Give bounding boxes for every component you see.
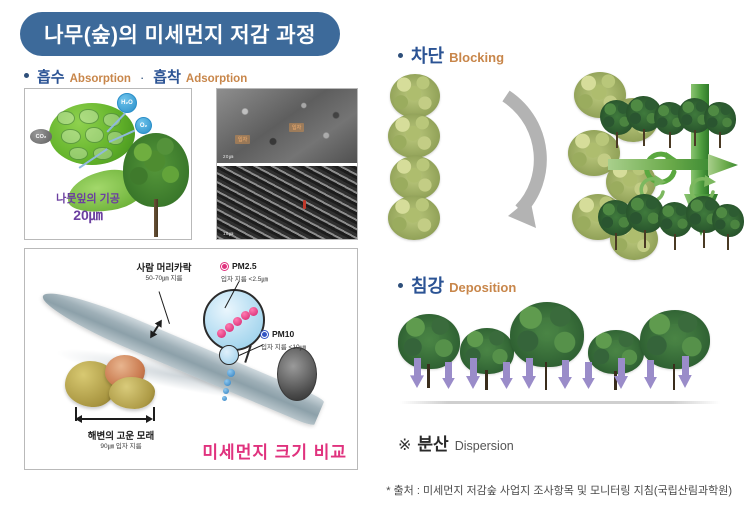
sem-image-top: 입자 입자 20㎛ <box>217 89 357 164</box>
tree-trunk-icon <box>485 370 488 390</box>
ground-line <box>400 401 720 404</box>
blocking-en: Blocking <box>449 50 504 65</box>
stomata-panel: CO₂ H₂O O₂ 나뭇잎의 기공 20㎛ <box>24 88 192 240</box>
tree-trunk-icon <box>673 364 676 390</box>
pm25-label-detail: 입자 지름 <2.5㎛ <box>221 273 268 283</box>
hair-cross-section-icon <box>277 347 317 401</box>
infographic-page: 나무(숲)의 미세먼지 저감 과정 흡수 Absorption · 흡착 Ads… <box>0 0 750 510</box>
deposition-ko: 침강 <box>411 272 444 298</box>
pm10-dot-icon <box>261 331 268 338</box>
page-title: 나무(숲)의 미세먼지 저감 과정 <box>20 12 340 56</box>
pm10-label: PM10 입자 지름 <10㎛ <box>261 329 306 351</box>
sem-scale-bottom: 10㎛ <box>223 231 234 237</box>
canopy-icon <box>388 114 440 158</box>
tree-canopy-icon <box>704 102 736 135</box>
pm25-dot-icon <box>221 263 228 270</box>
sand-label-name: 해변의 고운 모래 <box>61 431 181 443</box>
pm25-label: PM2.5 입자 지름 <2.5㎛ <box>221 261 268 283</box>
tree-trunk-icon <box>616 132 618 148</box>
header-separator: · <box>140 70 144 85</box>
sem-image-bottom: 10㎛ <box>217 166 357 240</box>
bullet-icon <box>398 283 403 288</box>
hair-label: 사람 머리카락 50-70㎛ 지름 <box>109 263 219 284</box>
tree-crown-icon <box>123 133 189 207</box>
source-note: * 출처 : 미세먼지 저감숲 사업지 조사항목 및 모니터링 지침(국립산림과… <box>386 482 732 498</box>
bullet-icon <box>24 73 29 78</box>
section-header-deposition: 침강 Deposition <box>398 272 516 298</box>
canopy-icon <box>390 156 440 200</box>
pm25-label-name: PM2.5 <box>232 261 257 271</box>
o2-bubble-icon: O₂ <box>135 117 152 134</box>
pm10-highlight-circle <box>219 345 239 365</box>
blocking-ko: 차단 <box>411 42 444 68</box>
absorption-en: Absorption <box>70 73 131 85</box>
section-header-dispersion: ※ 분산 Dispersion <box>398 430 514 455</box>
tree-trunk-icon <box>674 234 676 250</box>
tree-trunk-icon <box>643 129 645 146</box>
sem-scale-top: 20㎛ <box>223 154 234 160</box>
magnifier-icon <box>203 289 265 351</box>
tree-trunk-icon <box>694 130 696 146</box>
sem-tag-left: 입자 <box>235 135 250 144</box>
canopy-icon <box>388 196 440 240</box>
co2-bubble-icon: CO₂ <box>30 129 52 144</box>
tree-trunk-icon <box>727 234 729 250</box>
pm10-label-detail: 입자 지름 <10㎛ <box>261 341 306 351</box>
sem-marker-icon <box>303 200 306 209</box>
hair-label-name: 사람 머리카락 <box>109 263 219 275</box>
section-header-blocking: 차단 Blocking <box>398 42 504 68</box>
size-comparison-title: 미세먼지 크기 비교 <box>202 438 347 463</box>
dispersion-en: Dispersion <box>455 439 514 453</box>
tree-photo <box>123 133 189 237</box>
tree-trunk-icon <box>669 132 671 148</box>
deposition-en: Deposition <box>449 280 516 295</box>
absorption-ko: 흡수 <box>37 66 65 87</box>
tree-trunk-icon <box>427 364 430 388</box>
tree-trunk-icon <box>545 362 548 390</box>
sand-label: 해변의 고운 모래 90㎛ 입자 지름 <box>61 431 181 452</box>
tree-trunk-icon <box>644 230 646 248</box>
hair-label-detail: 50-70㎛ 지름 <box>109 275 219 283</box>
adsorption-ko: 흡착 <box>153 66 181 87</box>
gray-flow-arrow-icon <box>500 88 562 232</box>
tree-trunk-icon <box>719 132 721 148</box>
tree-row-top <box>600 96 740 150</box>
sem-tag-right: 입자 <box>289 123 304 132</box>
sand-diameter-arrow <box>75 415 153 423</box>
tree-trunk-icon <box>154 199 158 237</box>
bullet-icon <box>398 53 403 58</box>
section-header-absorption: 흡수 Absorption · 흡착 Adsorption <box>24 66 247 87</box>
tree-canopy-icon <box>398 314 460 369</box>
tree-row-bottom <box>598 192 744 250</box>
tree-trunk-icon <box>615 233 617 250</box>
reference-mark-icon: ※ <box>398 435 411 455</box>
adsorption-en: Adsorption <box>186 73 247 85</box>
sand-measure-tick-right <box>153 407 155 421</box>
sem-micrograph-panel: 입자 입자 20㎛ 10㎛ <box>216 88 358 240</box>
sand-label-detail: 90㎛ 입자 지름 <box>61 443 181 451</box>
deposition-illustration <box>392 300 728 420</box>
particle-size-comparison-panel: 사람 머리카락 50-70㎛ 지름 해변의 고운 모래 90㎛ 입자 지름 <box>24 248 358 470</box>
sand-grain-icon <box>109 377 155 409</box>
pm10-label-name: PM10 <box>272 329 294 339</box>
tree-canopy-icon <box>712 204 744 237</box>
dispersion-ko: 분산 <box>417 430 448 455</box>
canopy-icon <box>390 74 440 118</box>
sand-grains-illustration <box>65 353 161 409</box>
tree-trunk-icon <box>703 230 705 248</box>
h2o-bubble-icon: H₂O <box>117 93 137 113</box>
